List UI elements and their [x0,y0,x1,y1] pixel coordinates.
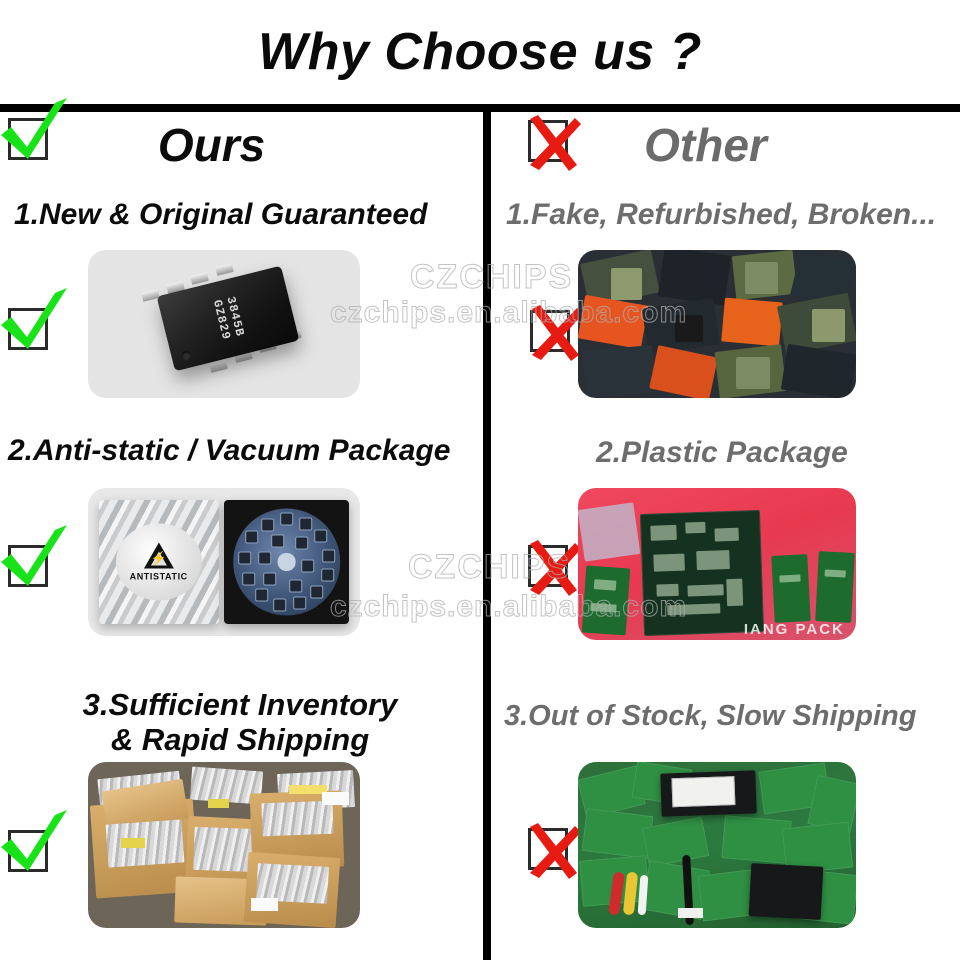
check-mark-box-header [8,118,48,160]
module-label [672,776,735,807]
antistatic-bag: ⚡ ANTISTATIC [99,500,219,624]
watermark-brand-1: CZCHIPS [410,258,573,297]
row-3-heading-other: 3.Out of Stock, Slow Shipping [504,700,960,732]
cross-mark-box-row-1 [530,310,570,352]
antistatic-package-photo: ⚡ ANTISTATIC [88,488,360,636]
genuine-chip-photo: 3845B GZ829 [88,250,360,398]
check-mark-box-row-3 [8,830,48,872]
antistatic-label: ⚡ ANTISTATIC [116,523,202,600]
lightning-bolt-icon: ⚡ [151,551,167,564]
row-1-heading-other: 1.Fake, Refurbished, Broken... [506,198,956,232]
row-2-heading-other: 2.Plastic Package [596,436,956,470]
antistatic-label-text: ANTISTATIC [130,571,188,581]
cross-mark-box-row-3 [528,828,568,870]
row-3-heading-ours-line-2: & Rapid Shipping [0,723,480,758]
check-mark-box-row-1 [8,308,48,350]
cross-mark-box-row-2 [528,545,568,587]
cross-mark-icon [525,540,581,598]
tape-reel [224,500,349,624]
cross-mark-box-header [528,120,568,162]
cross-mark-icon [525,823,581,881]
cross-mark-icon [527,305,583,363]
row-1-heading-ours: 1.New & Original Guaranteed [14,198,474,232]
scrap-boards-photo [578,762,856,928]
check-mark-box-row-2 [8,545,48,587]
why-choose-us-banner: Why Choose us ? Ours Other 1.New & Origi… [0,0,960,960]
plastic-pack-brand-text: IANG PACK [744,621,845,638]
row-3-heading-ours-line-1: 3.Sufficient Inventory [0,688,480,723]
column-header-ours: Ours [0,110,483,180]
row-3-heading-ours: 3.Sufficient Inventory & Rapid Shipping [0,688,480,757]
check-mark-icon [0,287,71,361]
plastic-package-photo: IANG PACK [578,488,856,640]
row-2-heading-ours: 2.Anti-static / Vacuum Package [8,434,478,468]
inventory-boxes-photo [88,762,360,928]
check-mark-icon [0,524,71,598]
column-label-ours: Ours [0,122,483,168]
check-mark-icon [0,809,71,883]
column-divider [483,104,491,960]
scrap-chips-photo [578,250,856,398]
page-title: Why Choose us ? [0,24,960,81]
